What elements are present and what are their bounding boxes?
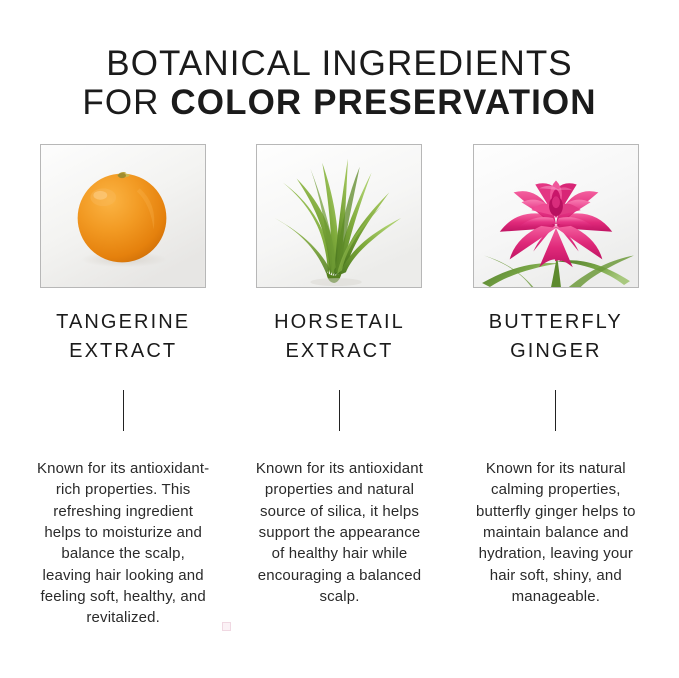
headline-line-2-bold: COLOR PRESERVATION — [170, 83, 596, 122]
title-divider — [339, 390, 340, 431]
ingredient-column-butterfly-ginger: BUTTERFLY GINGER Known for its natural c… — [469, 144, 643, 607]
title-divider — [123, 390, 124, 431]
title-divider — [555, 390, 556, 431]
ingredient-title: BUTTERFLY GINGER — [489, 308, 623, 365]
headline-line-2: FOR COLOR PRESERVATION — [0, 83, 679, 122]
butterfly-ginger-photo — [473, 144, 639, 288]
watermark-speck — [222, 622, 231, 631]
headline-line-1: BOTANICAL INGREDIENTS — [0, 44, 679, 83]
page-headline: BOTANICAL INGREDIENTS FOR COLOR PRESERVA… — [0, 0, 679, 122]
ingredient-description: Known for its antioxidant properties and… — [252, 458, 426, 607]
headline-line-2-light: FOR — [82, 83, 170, 122]
horsetail-photo — [256, 144, 422, 288]
ingredient-description: Known for its natural calming properties… — [469, 458, 643, 607]
ingredient-title: TANGERINE EXTRACT — [56, 308, 190, 365]
ingredient-column-tangerine: TANGERINE EXTRACT Known for its antioxid… — [36, 144, 210, 628]
ingredient-column-horsetail: HORSETAIL EXTRACT Known for its antioxid… — [252, 144, 426, 607]
ingredient-columns: TANGERINE EXTRACT Known for its antioxid… — [0, 144, 679, 628]
ingredient-title: HORSETAIL EXTRACT — [274, 308, 405, 365]
ingredient-description: Known for its antioxidant-rich propertie… — [36, 458, 210, 628]
tangerine-photo — [40, 144, 206, 288]
